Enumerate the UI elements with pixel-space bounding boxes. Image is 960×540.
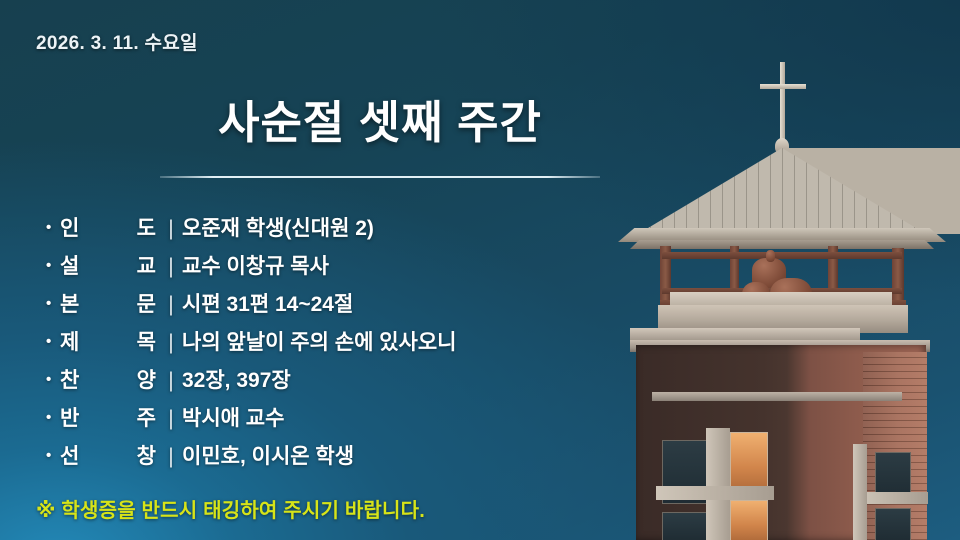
program-value: 교수 이창규 목사 <box>182 250 646 280</box>
program-value: 32장, 397장 <box>182 364 646 394</box>
program-label: 인 도 <box>60 212 160 242</box>
bullet-icon: • <box>46 258 60 273</box>
program-label-char-2: 양 <box>137 364 156 394</box>
program-value: 오준재 학생(신대원 2) <box>182 212 646 242</box>
program-label-char-1: 설 <box>60 250 79 280</box>
program-label-char-1: 반 <box>60 402 79 432</box>
bullet-icon: • <box>46 296 60 311</box>
program-label: 선 창 <box>60 440 160 470</box>
program-label-char-1: 제 <box>60 326 79 356</box>
service-date: 2026. 3. 11. 수요일 <box>36 28 198 55</box>
bullet-icon: • <box>46 410 60 425</box>
program-value: 이민호, 이시온 학생 <box>182 440 646 470</box>
program-value: 나의 앞날이 주의 손에 있사오니 <box>182 326 646 356</box>
program-list: • 인 도 | 오준재 학생(신대원 2) • 설 교 | 교수 이창규 목사 … <box>46 212 646 478</box>
bullet-icon: • <box>46 448 60 463</box>
window-center-lit-upper <box>730 432 768 492</box>
program-label: 반 주 <box>60 402 160 432</box>
window-center-lit-lower <box>730 500 768 540</box>
attendance-notice: ※ 학생증을 반드시 태깅하여 주시기 바랍니다. <box>36 494 425 523</box>
cross-icon <box>780 62 785 144</box>
program-label: 설 교 <box>60 250 160 280</box>
window-mullion-side-vertical <box>853 444 867 540</box>
window-mullion-horizontal <box>656 486 774 500</box>
label-value-separator: | <box>160 369 182 393</box>
program-value: 시편 31편 14~24절 <box>182 288 646 318</box>
label-value-separator: | <box>160 407 182 431</box>
belfry-rail-top <box>662 252 902 259</box>
belfry-eave-upper <box>618 228 946 242</box>
list-item: • 제 목 | 나의 앞날이 주의 손에 있사오니 <box>46 326 646 364</box>
label-value-separator: | <box>160 217 182 241</box>
title-divider <box>160 176 600 178</box>
window-mullion-side <box>858 492 928 504</box>
program-label-char-2: 교 <box>137 250 156 280</box>
belfry-roof <box>638 148 960 234</box>
program-label-char-1: 찬 <box>60 364 79 394</box>
bullet-icon: • <box>46 372 60 387</box>
program-label-char-2: 창 <box>137 440 156 470</box>
program-value: 박시애 교수 <box>182 402 646 432</box>
program-label-char-2: 목 <box>137 326 156 356</box>
program-label: 찬 양 <box>60 364 160 394</box>
belfry-eave-lower <box>630 240 934 249</box>
program-label: 제 목 <box>60 326 160 356</box>
bell-upper-yoke <box>766 250 775 262</box>
program-label-char-2: 도 <box>137 212 156 242</box>
cross-icon-crossbar <box>760 84 806 89</box>
tower-string-course <box>652 392 902 401</box>
label-value-separator: | <box>160 293 182 317</box>
program-label-char-2: 문 <box>137 288 156 318</box>
label-value-separator: | <box>160 331 182 355</box>
window-side-lower <box>875 508 911 540</box>
list-item: • 설 교 | 교수 이창규 목사 <box>46 250 646 288</box>
bullet-icon: • <box>46 334 60 349</box>
list-item: • 인 도 | 오준재 학생(신대원 2) <box>46 212 646 250</box>
program-label: 본 문 <box>60 288 160 318</box>
list-item: • 찬 양 | 32장, 397장 <box>46 364 646 402</box>
page-title: 사순절 셋째 주간 <box>0 86 760 151</box>
program-label-char-1: 본 <box>60 288 79 318</box>
bell-tower-photo <box>600 0 960 540</box>
program-label-char-1: 인 <box>60 212 79 242</box>
window-left-lower <box>662 512 708 540</box>
label-value-separator: | <box>160 445 182 469</box>
bullet-icon: • <box>46 220 60 235</box>
label-value-separator: | <box>160 255 182 279</box>
window-mullion-vertical <box>706 428 730 540</box>
list-item: • 선 창 | 이민호, 이시온 학생 <box>46 440 646 478</box>
list-item: • 본 문 | 시편 31편 14~24절 <box>46 288 646 326</box>
list-item: • 반 주 | 박시애 교수 <box>46 402 646 440</box>
service-announcement-slide: 2026. 3. 11. 수요일 사순절 셋째 주간 • 인 도 | 오준재 학… <box>0 0 960 540</box>
program-label-char-1: 선 <box>60 440 79 470</box>
program-label-char-2: 주 <box>137 402 156 432</box>
